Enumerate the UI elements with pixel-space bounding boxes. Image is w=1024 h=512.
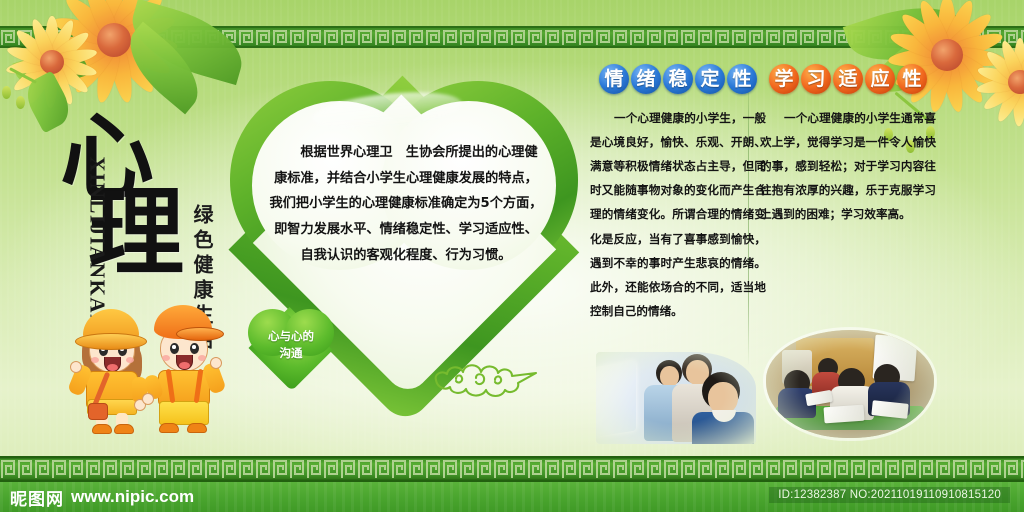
section-emotional-stability: 情 绪 稳 定 性 一个心理健康的小学生，一般是心境良好，愉快、乐观、开朗、满意… — [590, 62, 766, 323]
heart-body-text: 根据世界心理卫 生协会所提出的心理健康标准，并结合小学生心理健康发展的特点，我们… — [268, 140, 544, 269]
section-learning-adaptability: 学 习 适 应 性 一个心理健康的小学生通常喜欢上学，觉得学习是一件令人愉快的事… — [760, 62, 936, 227]
heading-char: 性 — [897, 64, 927, 94]
hand — [142, 393, 154, 405]
hat-brim — [75, 333, 147, 350]
section-heading-learning-adaptability: 学 习 适 应 性 — [760, 62, 936, 96]
cheek — [91, 357, 99, 363]
heart-badge-line-2: 沟通 — [248, 345, 334, 362]
heading-char: 定 — [695, 64, 725, 94]
section-body-emotional-stability: 一个心理健康的小学生，一般是心境良好，愉快、乐观、开朗、满意等积极情绪状态占主导… — [590, 106, 766, 323]
shoe — [159, 423, 179, 433]
heading-char: 稳 — [663, 64, 693, 94]
flower-decoration-top-right-2 — [974, 36, 1024, 128]
photo-vignette — [766, 330, 934, 438]
bud-decoration — [16, 96, 25, 109]
hand — [210, 357, 222, 369]
satchel — [88, 403, 108, 420]
heading-char: 学 — [769, 64, 799, 94]
footer-watermark-bar: 昵图网 www.nipic.com ID:12382387 NO:2021101… — [0, 482, 1024, 512]
heading-char: 绪 — [631, 64, 661, 94]
cap-brim — [176, 327, 224, 341]
cheek — [162, 355, 170, 361]
cheek — [198, 355, 206, 361]
heading-char: 性 — [727, 64, 757, 94]
heading-char: 适 — [833, 64, 863, 94]
heading-char: 应 — [865, 64, 895, 94]
poster-canvas: 心 理 XINLIJIANKANG 绿色健康生活 — [0, 0, 1024, 512]
photo-vignette — [596, 352, 756, 444]
shoe — [92, 424, 112, 434]
bud-decoration — [2, 86, 11, 99]
flower-center — [97, 23, 131, 57]
hand — [70, 361, 82, 373]
watermark-site-url[interactable]: www.nipic.com — [71, 487, 194, 507]
heading-char: 习 — [801, 64, 831, 94]
tongue — [179, 362, 190, 369]
tongue — [107, 364, 118, 371]
photo-children-looking-at-screen — [596, 352, 756, 444]
heart-badge-line-1: 心与心的 — [248, 328, 334, 345]
cheek — [126, 357, 134, 363]
auspicious-cloud-decoration — [432, 352, 540, 408]
auspicious-cloud-icon — [432, 352, 540, 404]
heading-char: 情 — [599, 64, 629, 94]
heart-badge: 心与心的 沟通 — [248, 308, 334, 390]
eye — [190, 343, 199, 354]
watermark-asset-id: ID:12382387 NO:20211019110910815120 — [769, 487, 1010, 503]
section-heading-emotional-stability: 情 绪 稳 定 性 — [590, 62, 766, 96]
cartoon-boy — [144, 301, 224, 435]
border-pattern-bottom — [0, 456, 1024, 482]
greek-key-icon — [0, 456, 1024, 482]
photo-children-reading-books — [766, 330, 934, 438]
eye — [170, 343, 179, 354]
flower-center — [1008, 70, 1024, 94]
shoe — [114, 424, 134, 434]
heart-badge-text: 心与心的 沟通 — [248, 328, 334, 361]
cartoon-girl — [74, 303, 150, 435]
shoe — [187, 423, 207, 433]
pants — [159, 401, 209, 425]
watermark-site-name: 昵图网 — [10, 485, 64, 510]
cartoon-children-illustration — [70, 300, 230, 435]
section-body-learning-adaptability: 一个心理健康的小学生通常喜欢上学，觉得学习是一件令人愉快的事，感到轻松；对于学习… — [760, 106, 936, 227]
